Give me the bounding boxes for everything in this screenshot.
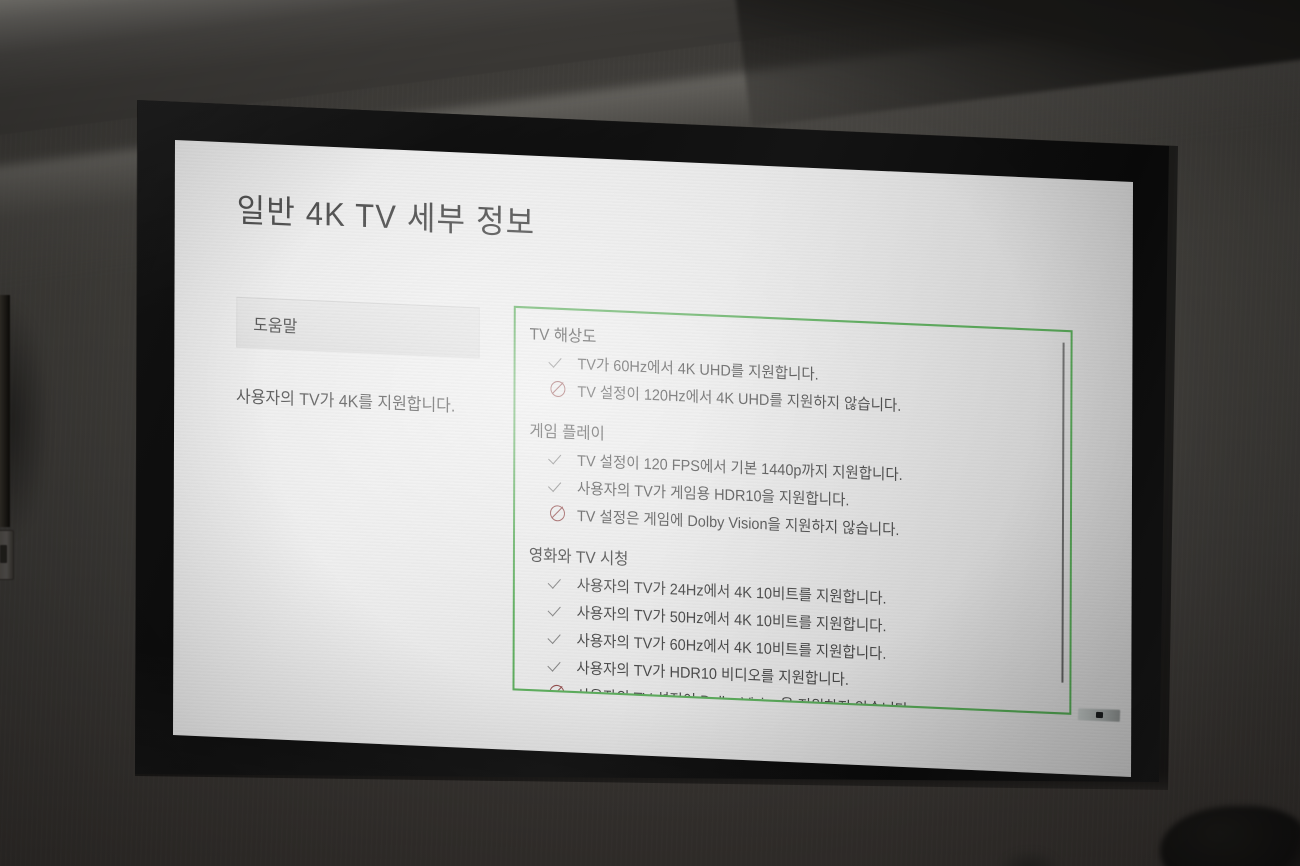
room-photo: 일반 4K TV 세부 정보 도움말 사용자의 TV가 4K를 지원합니다. T… — [0, 0, 1300, 866]
photo-vignette — [0, 0, 1300, 866]
